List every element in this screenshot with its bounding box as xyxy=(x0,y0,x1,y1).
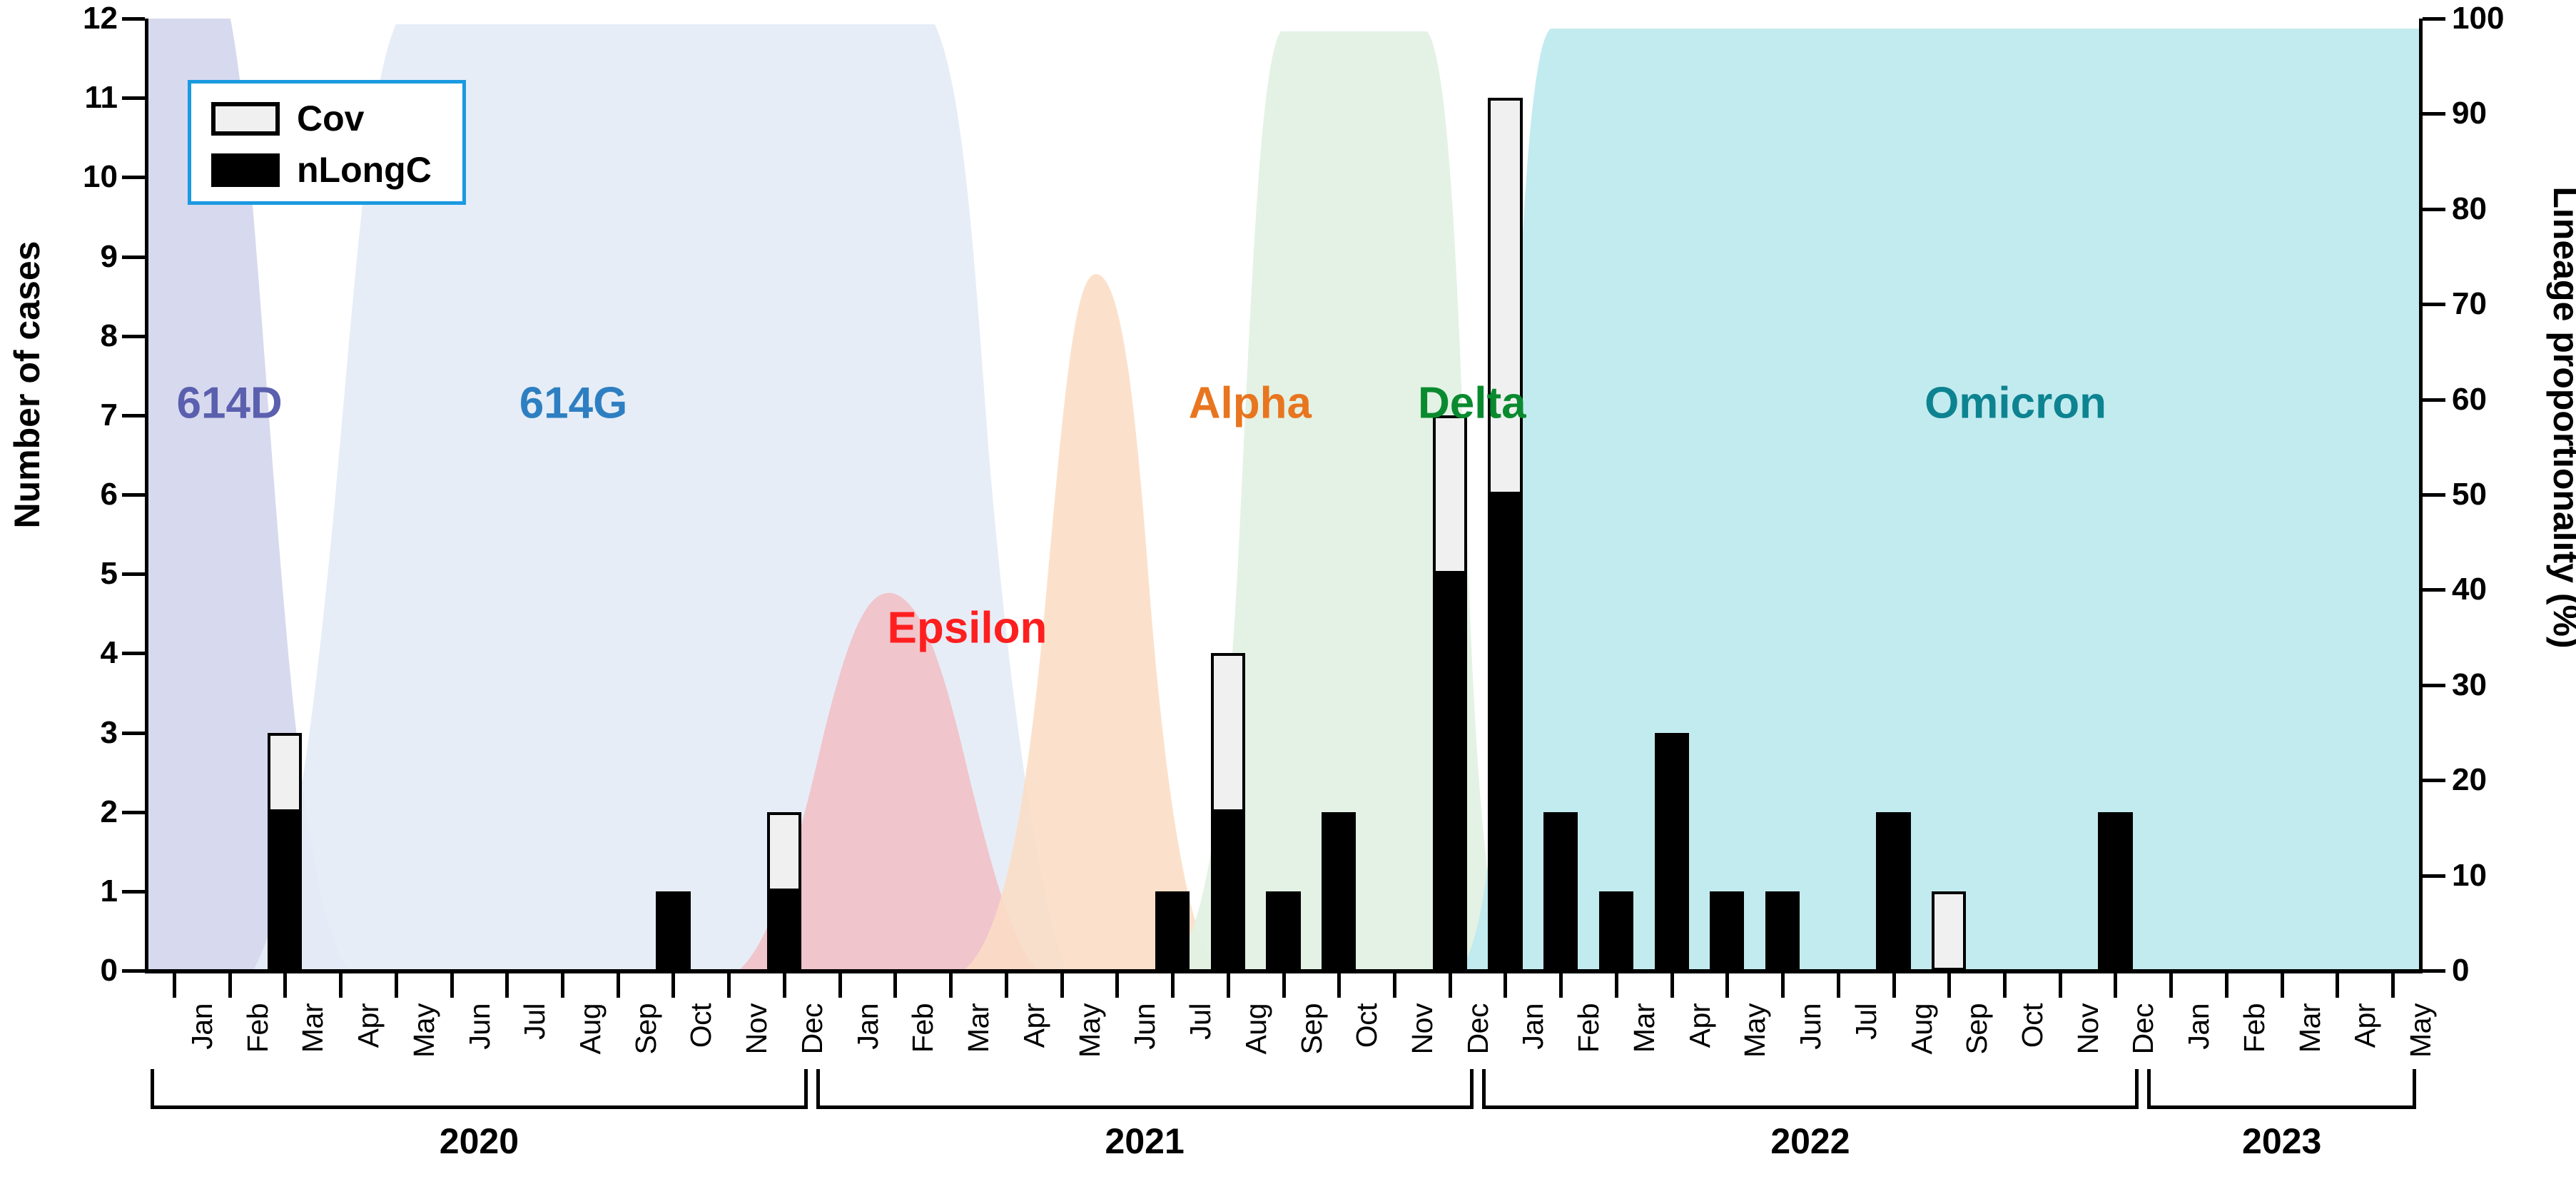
y-tick-label: 2 xyxy=(0,794,118,830)
x-tick-label: Feb xyxy=(1572,1003,1606,1053)
bar-segment-nlongc xyxy=(1211,812,1245,971)
secondary-y-tick xyxy=(2423,969,2445,973)
x-tick-label: Apr xyxy=(2348,1003,2382,1048)
bar xyxy=(1211,653,1245,971)
secondary-y-tick-label: 10 xyxy=(2452,858,2487,894)
x-tick-label: Jun xyxy=(1128,1003,1162,1050)
x-tick xyxy=(1282,973,1286,998)
x-tick-label: Oct xyxy=(684,1003,718,1048)
bar-segment-nlongc xyxy=(1266,891,1300,971)
x-tick-label: Dec xyxy=(796,1003,829,1054)
x-tick xyxy=(1503,973,1507,998)
variant-label-alpha: Alpha xyxy=(1189,378,1312,429)
secondary-y-tick-label: 40 xyxy=(2452,572,2487,607)
x-tick-label: Mar xyxy=(1628,1003,1661,1053)
x-tick xyxy=(783,973,786,998)
y-tick xyxy=(122,96,145,100)
x-tick-label: Jul xyxy=(1850,1003,1883,1040)
x-tick-label: Dec xyxy=(1461,1003,1495,1054)
year-label: 2021 xyxy=(816,1120,1474,1162)
bar xyxy=(1655,733,1689,971)
bar-segment-cov xyxy=(1433,415,1467,574)
secondary-y-tick xyxy=(2423,493,2445,497)
y-tick-label: 3 xyxy=(0,715,118,751)
secondary-y-tick-label: 50 xyxy=(2452,477,2487,512)
secondary-y-axis-title: Lineage proportionality (%) xyxy=(2545,168,2576,667)
x-tick-label: Jul xyxy=(1184,1003,1217,1040)
x-tick xyxy=(2336,973,2339,998)
secondary-y-tick-label: 30 xyxy=(2452,667,2487,703)
bar xyxy=(1765,891,1800,971)
x-tick xyxy=(228,973,232,998)
x-tick xyxy=(1670,973,1674,998)
x-tick xyxy=(838,973,842,998)
bar xyxy=(767,812,801,971)
x-tick-label: Mar xyxy=(296,1003,330,1053)
legend-label-nlongc: nLongC xyxy=(297,152,432,188)
secondary-y-tick xyxy=(2423,17,2445,21)
x-tick-label: May xyxy=(407,1003,441,1058)
x-tick-label: Dec xyxy=(2126,1003,2160,1054)
x-tick-label: Jun xyxy=(463,1003,497,1050)
year-bracket xyxy=(1482,1069,2139,1109)
secondary-y-tick-label: 70 xyxy=(2452,286,2487,322)
x-tick xyxy=(1005,973,1008,998)
variant-label-omicron: Omicron xyxy=(1925,378,2106,429)
x-tick-label: May xyxy=(2404,1003,2438,1058)
secondary-y-tick xyxy=(2423,779,2445,782)
x-tick-label: Jul xyxy=(518,1003,552,1040)
year-label: 2023 xyxy=(2147,1120,2416,1162)
bar-segment-cov xyxy=(1211,653,1245,811)
x-tick-label: Feb xyxy=(906,1003,940,1053)
y-axis-line xyxy=(145,19,148,972)
x-tick xyxy=(2059,973,2062,998)
y-tick xyxy=(122,652,145,655)
x-tick xyxy=(173,973,176,998)
x-tick-label: Sep xyxy=(1960,1003,1994,1054)
y-tick xyxy=(122,17,145,21)
x-tick xyxy=(339,973,343,998)
bar-segment-nlongc xyxy=(1876,812,1910,971)
variant-label-epsilon: Epsilon xyxy=(887,603,1047,654)
x-tick xyxy=(2225,973,2228,998)
bar xyxy=(1876,812,1910,971)
bar xyxy=(656,891,690,971)
x-tick xyxy=(1781,973,1785,998)
x-tick xyxy=(893,973,897,998)
bar-segment-nlongc xyxy=(1710,891,1744,971)
x-tick-label: May xyxy=(1073,1003,1107,1058)
y-tick-label: 5 xyxy=(0,556,118,592)
bar-segment-nlongc xyxy=(1599,891,1633,971)
variant-label-614g: 614G xyxy=(519,378,628,429)
year-label: 2022 xyxy=(1482,1120,2139,1162)
x-tick-label: Mar xyxy=(2293,1003,2327,1053)
x-tick xyxy=(1837,973,1840,998)
x-tick-label: Feb xyxy=(2238,1003,2271,1053)
secondary-y-tick-label: 80 xyxy=(2452,191,2487,227)
x-tick-label: May xyxy=(1738,1003,1772,1058)
x-tick xyxy=(283,973,287,998)
y-tick-label: 1 xyxy=(0,874,118,909)
x-tick-label: Sep xyxy=(1295,1003,1329,1054)
bar-segment-nlongc xyxy=(268,812,302,971)
secondary-y-tick xyxy=(2423,303,2445,306)
secondary-y-tick-label: 100 xyxy=(2452,1,2504,36)
x-tick xyxy=(1559,973,1563,998)
bar xyxy=(1932,891,1966,971)
bar xyxy=(1155,891,1190,971)
bar-segment-cov xyxy=(1932,891,1966,971)
x-tick-label: Oct xyxy=(1350,1003,1384,1048)
x-tick xyxy=(1115,973,1119,998)
x-tick xyxy=(450,973,454,998)
x-tick xyxy=(727,973,731,998)
legend-label-cov: Cov xyxy=(297,101,364,136)
x-tick-label: Apr xyxy=(352,1003,385,1048)
x-tick-label: Nov xyxy=(2072,1003,2105,1054)
variant-label-614d: 614D xyxy=(176,378,282,429)
bar xyxy=(2098,812,2132,971)
secondary-y-tick xyxy=(2423,398,2445,402)
y-tick xyxy=(122,572,145,576)
secondary-y-tick-label: 90 xyxy=(2452,96,2487,131)
x-tick-label: Nov xyxy=(740,1003,774,1054)
year-bracket xyxy=(2147,1069,2416,1109)
bar xyxy=(1710,891,1744,971)
bar xyxy=(1433,415,1467,971)
x-tick xyxy=(1171,973,1175,998)
x-tick-label: Jan xyxy=(1516,1003,1550,1050)
x-tick-label: Aug xyxy=(1905,1003,1939,1054)
x-tick xyxy=(2003,973,2007,998)
secondary-y-tick xyxy=(2423,208,2445,211)
y-tick-label: 10 xyxy=(0,159,118,195)
x-tick-label: Jan xyxy=(186,1003,219,1050)
legend-item-nlongc: nLongC xyxy=(211,152,432,188)
x-tick xyxy=(2391,973,2395,998)
variant-label-delta: Delta xyxy=(1418,378,1526,429)
x-tick-label: Apr xyxy=(1018,1003,1051,1048)
bar-segment-nlongc xyxy=(1543,812,1578,971)
bar-segment-nlongc xyxy=(1322,812,1356,971)
chart-legend: Cov nLongC xyxy=(188,80,466,205)
bar-segment-cov xyxy=(1488,98,1522,495)
x-tick xyxy=(1337,973,1341,998)
x-tick-label: Apr xyxy=(1683,1003,1717,1048)
y-tick xyxy=(122,969,145,973)
y-tick-label: 0 xyxy=(0,953,118,988)
secondary-y-tick-label: 20 xyxy=(2452,762,2487,798)
x-tick xyxy=(1393,973,1396,998)
y-tick xyxy=(122,335,145,338)
bar-segment-nlongc xyxy=(1155,891,1190,971)
bar xyxy=(1322,812,1356,971)
variant-proportion-bands xyxy=(146,19,2420,971)
bar-segment-nlongc xyxy=(2098,812,2132,971)
y-tick-label: 4 xyxy=(0,635,118,671)
y-tick-label: 12 xyxy=(0,1,118,36)
x-tick xyxy=(1947,973,1951,998)
y-tick xyxy=(122,414,145,418)
x-tick xyxy=(949,973,953,998)
bar xyxy=(268,733,302,971)
y-axis-title: Number of cases xyxy=(6,221,48,549)
x-tick xyxy=(1060,973,1064,998)
x-tick-label: Feb xyxy=(241,1003,275,1053)
x-tick-label: Jan xyxy=(851,1003,885,1050)
x-tick-label: Oct xyxy=(2016,1003,2049,1048)
x-tick xyxy=(505,973,509,998)
x-tick xyxy=(1227,973,1230,998)
x-tick-label: Nov xyxy=(1406,1003,1439,1054)
bar-segment-nlongc xyxy=(1488,495,1522,971)
legend-item-cov: Cov xyxy=(211,101,364,136)
y-tick xyxy=(122,811,145,814)
x-tick xyxy=(1615,973,1618,998)
year-bracket xyxy=(816,1069,1474,1109)
x-tick xyxy=(2114,973,2117,998)
x-tick xyxy=(1725,973,1729,998)
x-tick-label: Aug xyxy=(1239,1003,1273,1054)
x-tick xyxy=(1449,973,1452,998)
bar xyxy=(1543,812,1578,971)
bar xyxy=(1266,891,1300,971)
x-tick-label: Mar xyxy=(962,1003,995,1053)
bar-segment-cov xyxy=(268,733,302,812)
x-tick xyxy=(395,973,398,998)
bar-segment-nlongc xyxy=(1765,891,1800,971)
bar-segment-nlongc xyxy=(1655,733,1689,971)
year-label: 2020 xyxy=(151,1120,808,1162)
secondary-y-tick xyxy=(2423,588,2445,592)
x-tick xyxy=(671,973,675,998)
secondary-y-tick xyxy=(2423,112,2445,116)
x-tick xyxy=(2169,973,2173,998)
x-tick-label: Sep xyxy=(629,1003,663,1054)
y-tick xyxy=(122,176,145,179)
chart-figure: 0123456789101112 0102030405060708090100 … xyxy=(0,0,2576,1179)
x-tick xyxy=(1892,973,1896,998)
x-tick xyxy=(561,973,564,998)
legend-swatch-nlongc xyxy=(211,153,280,187)
bar-segment-nlongc xyxy=(1433,574,1467,971)
secondary-y-tick-label: 60 xyxy=(2452,382,2487,418)
x-tick xyxy=(617,973,620,998)
year-bracket xyxy=(151,1069,808,1109)
x-tick-label: Jun xyxy=(1794,1003,1827,1050)
bar xyxy=(1599,891,1633,971)
secondary-y-tick-label: 0 xyxy=(2452,953,2469,988)
bar xyxy=(1488,98,1522,971)
legend-swatch-cov xyxy=(211,102,280,136)
bar-segment-nlongc xyxy=(767,891,801,971)
y-tick xyxy=(122,732,145,735)
bar-segment-cov xyxy=(767,812,801,891)
x-tick-label: Aug xyxy=(574,1003,607,1054)
secondary-y-tick xyxy=(2423,874,2445,878)
y-tick xyxy=(122,255,145,259)
x-tick xyxy=(2281,973,2284,998)
y-tick xyxy=(122,890,145,894)
y-tick xyxy=(122,493,145,497)
plot-area xyxy=(146,19,2420,971)
bar-segment-nlongc xyxy=(656,891,690,971)
y-tick-label: 11 xyxy=(0,80,118,116)
secondary-y-tick xyxy=(2423,684,2445,687)
band-omicron xyxy=(1459,29,2420,971)
x-tick-label: Jan xyxy=(2182,1003,2216,1050)
